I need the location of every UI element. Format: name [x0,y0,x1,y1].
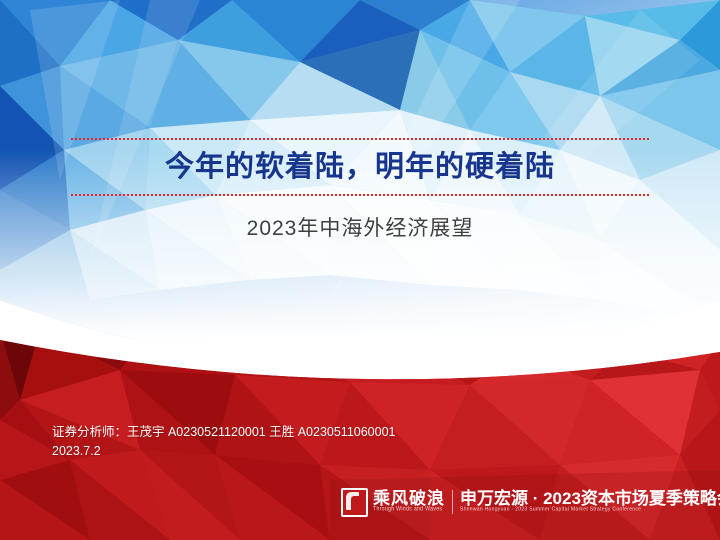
presentation-slide: 今年的软着陆，明年的硬着陆 2023年中海外经济展望 证券分析师：王茂宇 A02… [0,0,720,540]
brand-divider [452,490,453,514]
title-block: 今年的软着陆，明年的硬着陆 2023年中海外经济展望 [0,138,720,239]
conference-logo-band: 乘风破浪 Through Winds and Waves 申万宏源 · 2023… [341,487,720,517]
conference-name-en: Shenwan Hongyuan · 2023 Summer Capital M… [460,506,720,514]
report-date: 2023.7.2 [52,442,396,461]
seal-shape-inner [351,496,361,510]
page-title: 今年的软着陆，明年的硬着陆 [0,140,720,194]
brand-slogan-en: Through Winds and Waves [373,506,445,514]
analyst-names: 证券分析师：王茂宇 A0230521120001 王胜 A02305110600… [52,423,396,442]
analyst-credit: 证券分析师：王茂宇 A0230521120001 王胜 A02305110600… [52,423,396,461]
brand-slogan: 乘风破浪 Through Winds and Waves [373,491,452,513]
page-subtitle: 2023年中海外经济展望 [0,196,720,239]
conference-name-cn: 申万宏源 · 2023资本市场夏季策略会 [460,491,720,506]
seal-logo-icon [341,488,368,517]
brand-slogan-cn: 乘风破浪 [373,491,445,506]
conference-name: 申万宏源 · 2023资本市场夏季策略会 Shenwan Hongyuan · … [460,491,720,513]
